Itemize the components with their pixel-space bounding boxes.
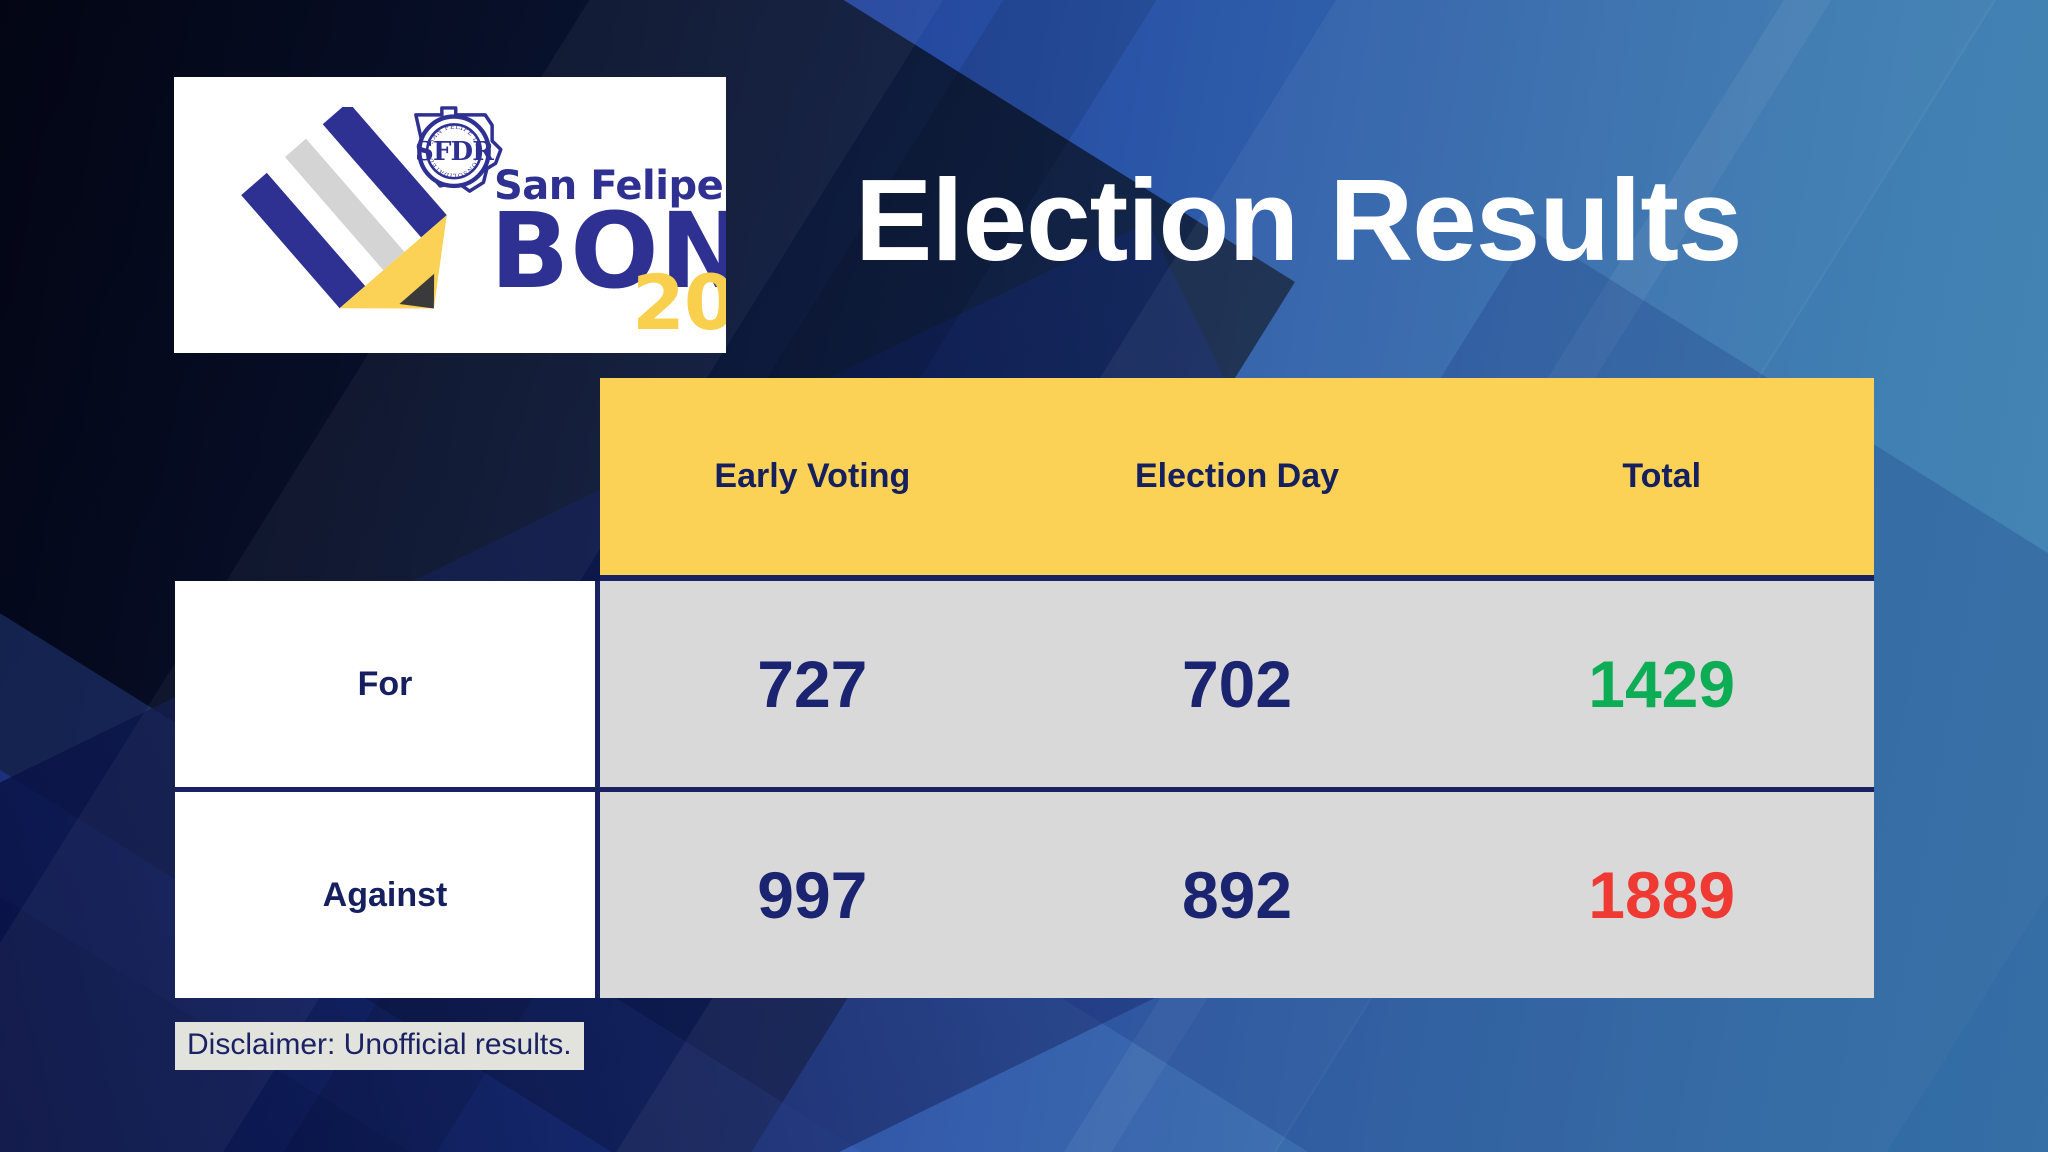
logo-year: 2025 bbox=[632, 265, 726, 341]
svg-text:SFDR: SFDR bbox=[415, 137, 494, 167]
column-header-total: Total bbox=[1449, 457, 1874, 496]
page-title: Election Results bbox=[855, 162, 1741, 278]
table-row: For 727 702 1429 bbox=[175, 581, 1874, 787]
election-results-graphic: SAN FELIPE DEL RIO CONSOLIDATED I.S.D. S… bbox=[0, 0, 2048, 1152]
cell-against-early-voting: 997 bbox=[600, 792, 1025, 998]
row-label-against: Against bbox=[175, 792, 600, 998]
column-header-early-voting: Early Voting bbox=[600, 457, 1025, 496]
cell-for-early-voting: 727 bbox=[600, 581, 1025, 787]
table-row: Against 997 892 1889 bbox=[175, 792, 1874, 998]
district-bond-logo: SAN FELIPE DEL RIO CONSOLIDATED I.S.D. S… bbox=[174, 77, 726, 353]
disclaimer-text: Disclaimer: Unofficial results. bbox=[175, 1022, 584, 1070]
cell-against-election-day: 892 bbox=[1025, 792, 1450, 998]
row-label-for: For bbox=[175, 581, 600, 787]
table-header-row: Early Voting Election Day Total bbox=[600, 378, 1874, 581]
cell-against-total: 1889 bbox=[1449, 792, 1874, 998]
column-header-election-day: Election Day bbox=[1025, 457, 1450, 496]
results-table: Early Voting Election Day Total For 727 … bbox=[175, 378, 1874, 998]
cell-for-election-day: 702 bbox=[1025, 581, 1450, 787]
cell-for-total: 1429 bbox=[1449, 581, 1874, 787]
